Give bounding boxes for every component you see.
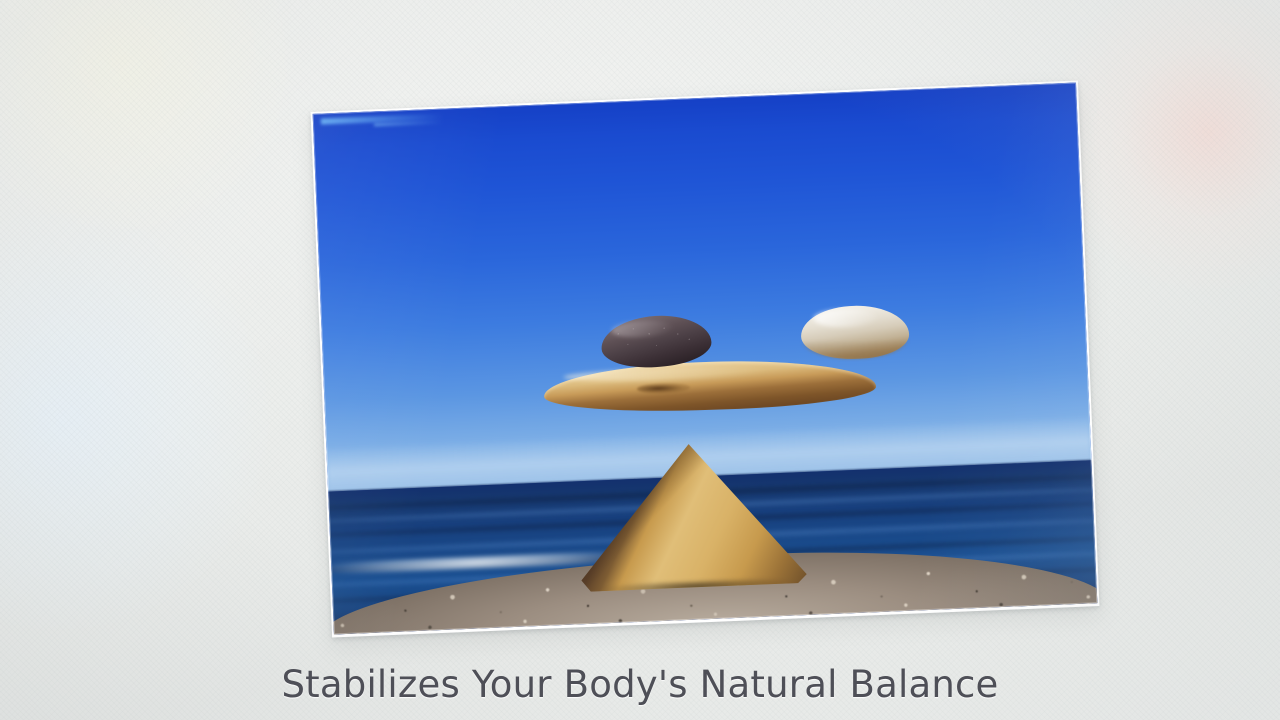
stone-balance-sculpture	[313, 83, 1098, 635]
light-stone-right	[801, 304, 911, 359]
beam-stone-highlight	[563, 364, 769, 383]
beam-stone-crack	[637, 382, 690, 393]
base-stone	[576, 440, 807, 592]
slide-stage: Stabilizes Your Body's Natural Balance	[0, 0, 1280, 720]
light-stone-highlight	[814, 308, 877, 327]
slide-caption: Stabilizes Your Body's Natural Balance	[0, 663, 1280, 706]
light-stone-shadow	[801, 338, 910, 359]
beam-stone	[543, 356, 877, 414]
photo-card[interactable]	[311, 80, 1100, 637]
base-stone-shadow	[576, 440, 807, 592]
balanced-stones-photo	[313, 83, 1098, 635]
